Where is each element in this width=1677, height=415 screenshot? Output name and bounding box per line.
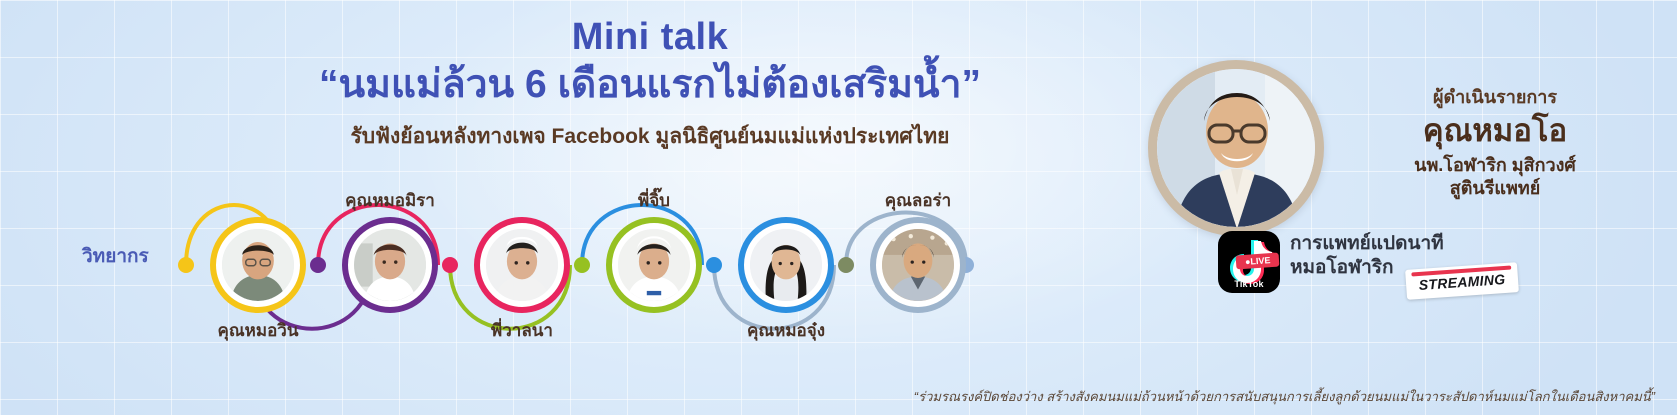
- streaming-badge: STREAMING: [1405, 262, 1519, 300]
- headline-block: Mini talk “นมแม่ล้วน 6 เดือนแรกไม่ต้องเส…: [240, 16, 1060, 153]
- speaker-node[interactable]: คุณหมอจุ๋ง: [738, 217, 834, 313]
- portrait-illustration: [354, 229, 426, 301]
- speaker-photo: [747, 226, 825, 304]
- portrait-illustration: [750, 229, 822, 301]
- channel-line-1: การแพทย์แปดนาที: [1290, 232, 1505, 256]
- speaker-node[interactable]: พี่วาลนา: [474, 217, 570, 313]
- footer-caption: “ร่วมรณรงค์ปิดช่องว่าง สร้างสังคมนมแม่ถ้…: [914, 386, 1655, 407]
- host-specialty: สูตินรีแพทย์: [1330, 177, 1660, 200]
- page-subtitle-thai: “นมแม่ล้วน 6 เดือนแรกไม่ต้องเสริมน้ำ”: [240, 62, 1060, 109]
- host-full-name: นพ.โอฬาริก มุสิกวงศ์: [1330, 154, 1660, 177]
- speaker-name: คุณหมอมิรา: [280, 187, 500, 214]
- host-role-label: ผู้ดำเนินรายการ: [1330, 82, 1660, 111]
- speaker-name: พี่วาลนา: [412, 317, 632, 344]
- speaker-photo: [351, 226, 429, 304]
- host-portrait-illustration: [1157, 69, 1315, 227]
- host-avatar: [1148, 60, 1324, 236]
- social-row: TikTok การแพทย์แปดนาที หมอโอฬาริก STREAM…: [1218, 228, 1677, 308]
- speaker-name: พี่จิ๊บ: [544, 187, 764, 214]
- speaker-photo: [879, 226, 957, 304]
- speaker-photo: [219, 226, 297, 304]
- speaker-node[interactable]: พี่จิ๊บ: [606, 217, 702, 313]
- speaker-name: คุณหมอวิน: [148, 317, 368, 344]
- portrait-illustration: [618, 229, 690, 301]
- page-title: Mini talk: [240, 16, 1060, 60]
- portrait-illustration: [222, 229, 294, 301]
- host-name: คุณหมอโอ: [1330, 113, 1660, 149]
- portrait-illustration: [882, 229, 954, 301]
- tiktok-label: TikTok: [1218, 279, 1280, 289]
- host-info: ผู้ดำเนินรายการ คุณหมอโอ นพ.โอฬาริก มุสิ…: [1330, 82, 1660, 200]
- replay-info-text: รับฟังย้อนหลังทางเพจ Facebook มูลนิธิศูน…: [240, 120, 1060, 153]
- speaker-name: คุณหมอจุ๋ง: [676, 317, 896, 344]
- speaker-name: คุณลอร่า: [808, 187, 1028, 214]
- portrait-illustration: [486, 229, 558, 301]
- speaker-node[interactable]: คุณหมอมิรา: [342, 217, 438, 313]
- speaker-photo: [615, 226, 693, 304]
- speakers-timeline: วิทยากร: [0, 175, 1060, 350]
- speaker-node[interactable]: คุณลอร่า: [870, 217, 966, 313]
- speaker-photo: [483, 226, 561, 304]
- promo-banner: Mini talk “นมแม่ล้วน 6 เดือนแรกไม่ต้องเส…: [0, 0, 1677, 415]
- speaker-node[interactable]: คุณหมอวิน: [210, 217, 306, 313]
